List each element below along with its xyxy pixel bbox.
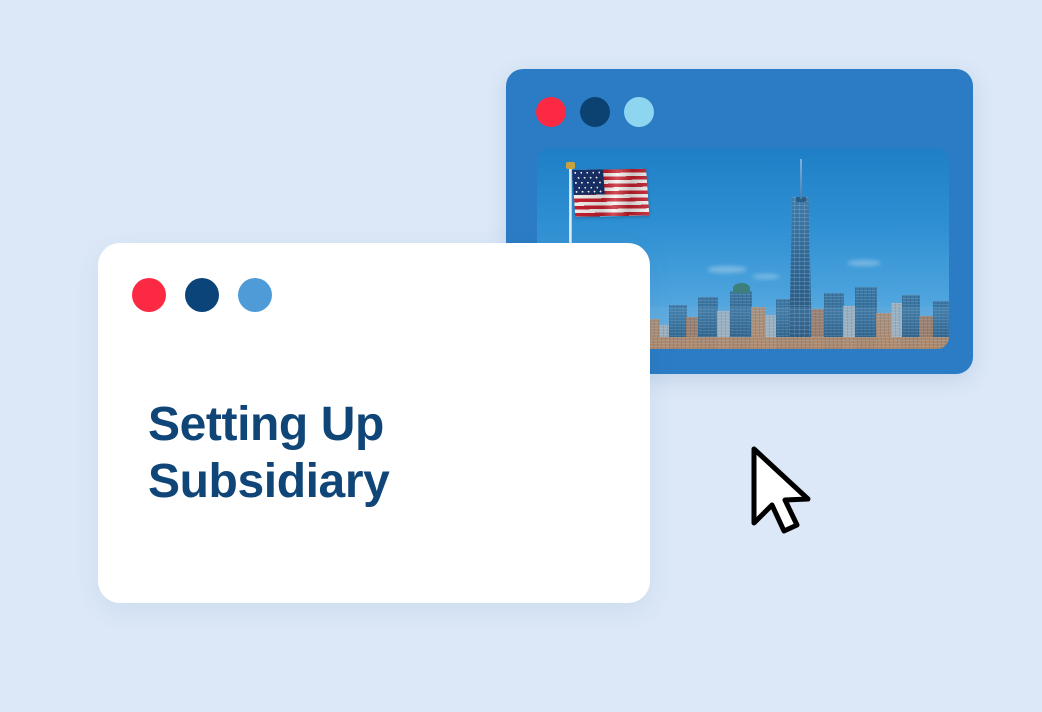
domed-roof	[733, 283, 750, 293]
flag-shading	[572, 169, 649, 217]
title-window-traffic-lights	[132, 278, 272, 312]
minimize-dot[interactable]	[580, 97, 610, 127]
one-world-trade-center	[789, 197, 812, 349]
page-title: Setting Up Subsidiary	[148, 397, 578, 510]
minimize-dot[interactable]	[185, 278, 219, 312]
mouse-pointer-icon	[748, 443, 814, 535]
maximize-dot[interactable]	[624, 97, 654, 127]
illustration-canvas: Setting Up Subsidiary	[0, 0, 1042, 712]
photo-window-traffic-lights	[536, 97, 654, 127]
wtc-spire	[800, 159, 802, 199]
close-dot[interactable]	[132, 278, 166, 312]
title-browser-window[interactable]: Setting Up Subsidiary	[98, 243, 650, 603]
close-dot[interactable]	[536, 97, 566, 127]
maximize-dot[interactable]	[238, 278, 272, 312]
flagpole-finial-icon	[566, 162, 575, 169]
us-flag-icon	[572, 169, 649, 217]
